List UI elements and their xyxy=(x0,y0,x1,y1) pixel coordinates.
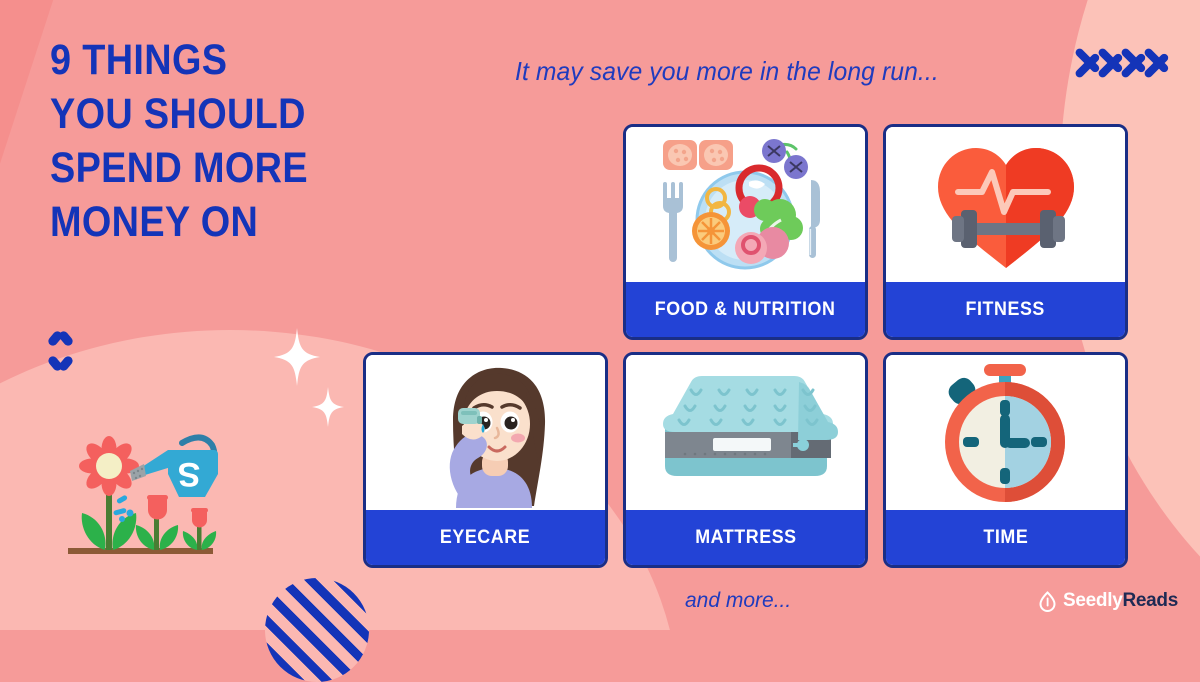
eye-drops-woman-icon xyxy=(366,355,605,510)
sparkle-star-large-icon xyxy=(274,328,320,386)
and-more-text: and more... xyxy=(685,589,791,613)
seedly-reads-logo[interactable]: SeedlyReads xyxy=(1037,590,1178,612)
heart-dumbbell-icon xyxy=(886,127,1125,282)
page-title: 9 THINGS YOU SHOULD SPEND MORE MONEY ON xyxy=(50,33,428,249)
svg-text:S: S xyxy=(178,455,201,493)
page-title-line-2: YOU SHOULD xyxy=(50,87,428,141)
card-label-fitness: FITNESS xyxy=(886,282,1125,337)
card-mattress[interactable]: MATTRESS xyxy=(623,352,868,568)
card-label-mattress: MATTRESS xyxy=(626,510,865,565)
card-label-food-nutrition: FOOD & NUTRITION xyxy=(626,282,865,337)
card-label-eyecare: EYECARE xyxy=(366,510,605,565)
seedly-reads-wordmark: SeedlyReads xyxy=(1063,590,1178,612)
logo-primary-text: Seedly xyxy=(1063,590,1122,611)
subtitle: It may save you more in the long run... xyxy=(515,56,939,87)
sparkle-star-small-icon xyxy=(312,387,344,427)
striped-circle-decoration xyxy=(265,578,369,682)
chevron-left-icon xyxy=(1167,38,1181,96)
card-food-nutrition[interactable]: FOOD & NUTRITION xyxy=(623,124,868,340)
page-title-line-4: MONEY ON xyxy=(50,195,428,249)
seedly-leaf-icon xyxy=(1037,591,1058,612)
background-corner-accent xyxy=(0,0,54,320)
card-label-time: TIME xyxy=(886,510,1125,565)
card-fitness[interactable]: FITNESS xyxy=(883,124,1128,340)
page-title-line-1: 9 THINGS xyxy=(50,33,428,87)
cross-sparkle-icon xyxy=(42,333,78,369)
garden-illustration: S xyxy=(58,405,258,565)
card-time[interactable]: TIME xyxy=(883,352,1128,568)
mattress-icon xyxy=(626,355,865,510)
logo-secondary-text: Reads xyxy=(1122,590,1178,611)
stopwatch-icon xyxy=(886,355,1125,510)
card-eyecare[interactable]: EYECARE xyxy=(363,352,608,568)
page-title-line-3: SPEND MORE xyxy=(50,141,428,195)
healthy-plate-icon xyxy=(626,127,865,282)
chevron-left-decoration xyxy=(1098,38,1190,96)
